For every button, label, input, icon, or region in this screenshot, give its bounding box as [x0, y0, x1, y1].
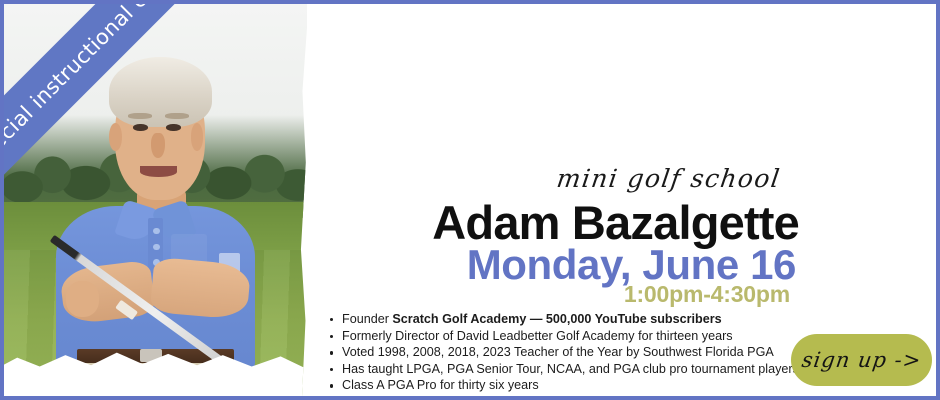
list-item-text: Formerly Director of David Leadbetter Go… [342, 329, 733, 343]
list-item: Founder Scratch Golf Academy — 500,000 Y… [342, 311, 799, 328]
nose [151, 133, 164, 159]
list-item: Formerly Director of David Leadbetter Go… [342, 328, 799, 345]
list-item-emphasis: Scratch Golf Academy — 500,000 YouTube s… [392, 312, 721, 326]
event-promo-banner: special instructional event mini golf sc… [0, 0, 940, 400]
script-title: mini golf school [555, 164, 783, 193]
eyebrow-right [165, 113, 189, 119]
content-area: mini golf school Adam Bazalgette Monday,… [304, 4, 936, 396]
event-time: 1:00pm-4:30pm [624, 281, 790, 308]
hair [109, 57, 212, 126]
list-item: Class A PGA Pro for thirty six years [342, 377, 799, 394]
sign-up-button[interactable]: sign up -> [791, 334, 932, 386]
list-item: Voted 1998, 2008, 2018, 2023 Teacher of … [342, 344, 799, 361]
credentials-list: Founder Scratch Golf Academy — 500,000 Y… [324, 311, 799, 394]
hand [66, 281, 99, 317]
list-item-text: Class A PGA Pro for thirty six years [342, 378, 539, 392]
eyebrow-left [128, 113, 152, 119]
eye-left [133, 124, 148, 131]
list-item-text: Voted 1998, 2008, 2018, 2023 Teacher of … [342, 345, 774, 359]
shirt-button-2 [153, 244, 160, 251]
shirt-button-1 [153, 228, 160, 235]
eye-right [166, 124, 181, 131]
mouth [140, 166, 176, 176]
ear-right [191, 123, 204, 151]
ear-left [109, 123, 122, 151]
list-item: Has taught LPGA, PGA Senior Tour, NCAA, … [342, 361, 799, 378]
list-item-text: Founder [342, 312, 392, 326]
list-item-text: Has taught LPGA, PGA Senior Tour, NCAA, … [342, 362, 799, 376]
sign-up-label: sign up -> [800, 348, 923, 372]
